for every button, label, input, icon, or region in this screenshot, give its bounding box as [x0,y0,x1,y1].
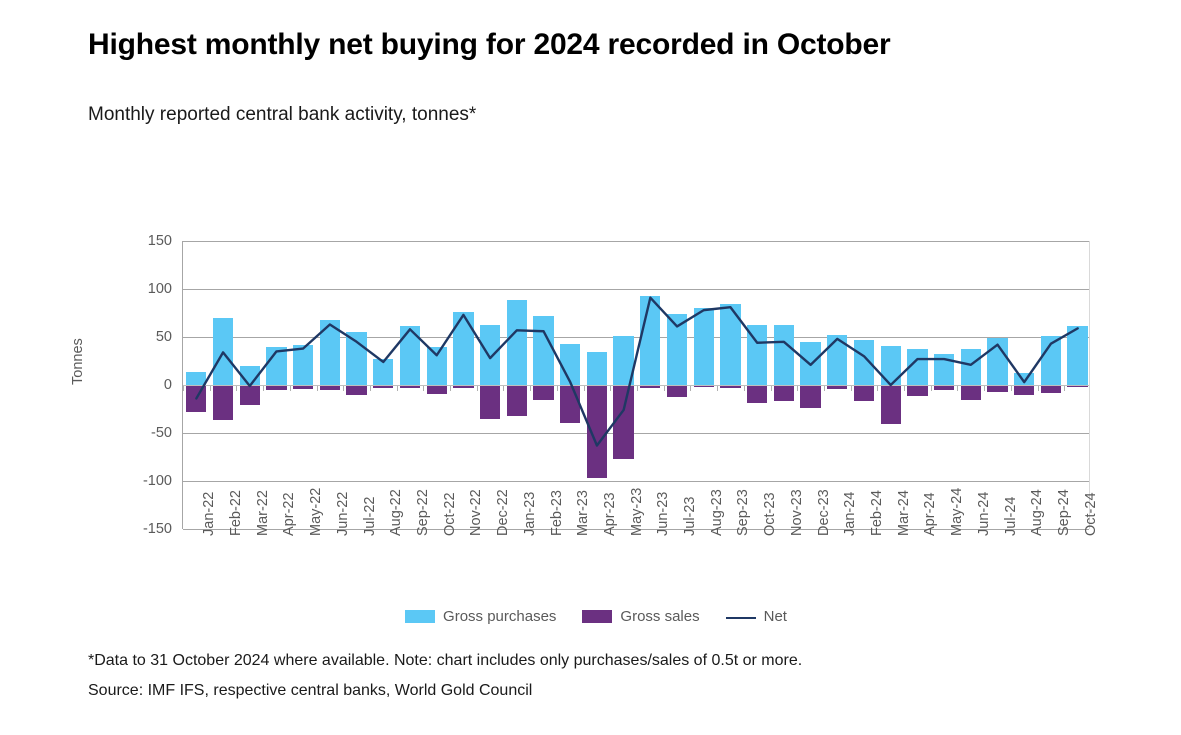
y-axis-tick-label: -100 [143,473,172,489]
chart-container: Tonnes 150100500-50-100-150 Jan-22Feb-22… [88,190,1104,640]
legend-item[interactable]: Net [726,608,787,625]
y-axis-tick-label: -50 [151,425,172,441]
legend-label: Gross purchases [443,608,556,625]
legend-item[interactable]: Gross purchases [405,608,556,625]
net-line-path [196,298,1077,446]
page-title: Highest monthly net buying for 2024 reco… [88,28,890,62]
net-line-series [183,241,1091,529]
y-axis-tick-label: 0 [164,377,172,393]
legend-label: Net [764,608,787,625]
chart-legend: Gross purchasesGross salesNet [88,608,1104,625]
legend-color-swatch [582,610,612,623]
y-axis-ticks: 150100500-50-100-150 [88,241,172,529]
footnote-note: *Data to 31 October 2024 where available… [88,652,802,670]
y-axis-title: Tonnes [70,338,86,385]
legend-label: Gross sales [620,608,699,625]
footnote-source: Source: IMF IFS, respective central bank… [88,682,532,700]
legend-item[interactable]: Gross sales [582,608,699,625]
y-axis-tick-label: 100 [148,281,172,297]
y-axis-tick-label: 150 [148,233,172,249]
legend-color-swatch [405,610,435,623]
plot-area [182,241,1090,529]
y-axis-tick-label: 50 [156,329,172,345]
chart-page: Highest monthly net buying for 2024 reco… [0,0,1181,735]
y-axis-tick-label: -150 [143,521,172,537]
chart-subtitle: Monthly reported central bank activity, … [88,104,476,126]
legend-line-swatch [726,610,756,623]
